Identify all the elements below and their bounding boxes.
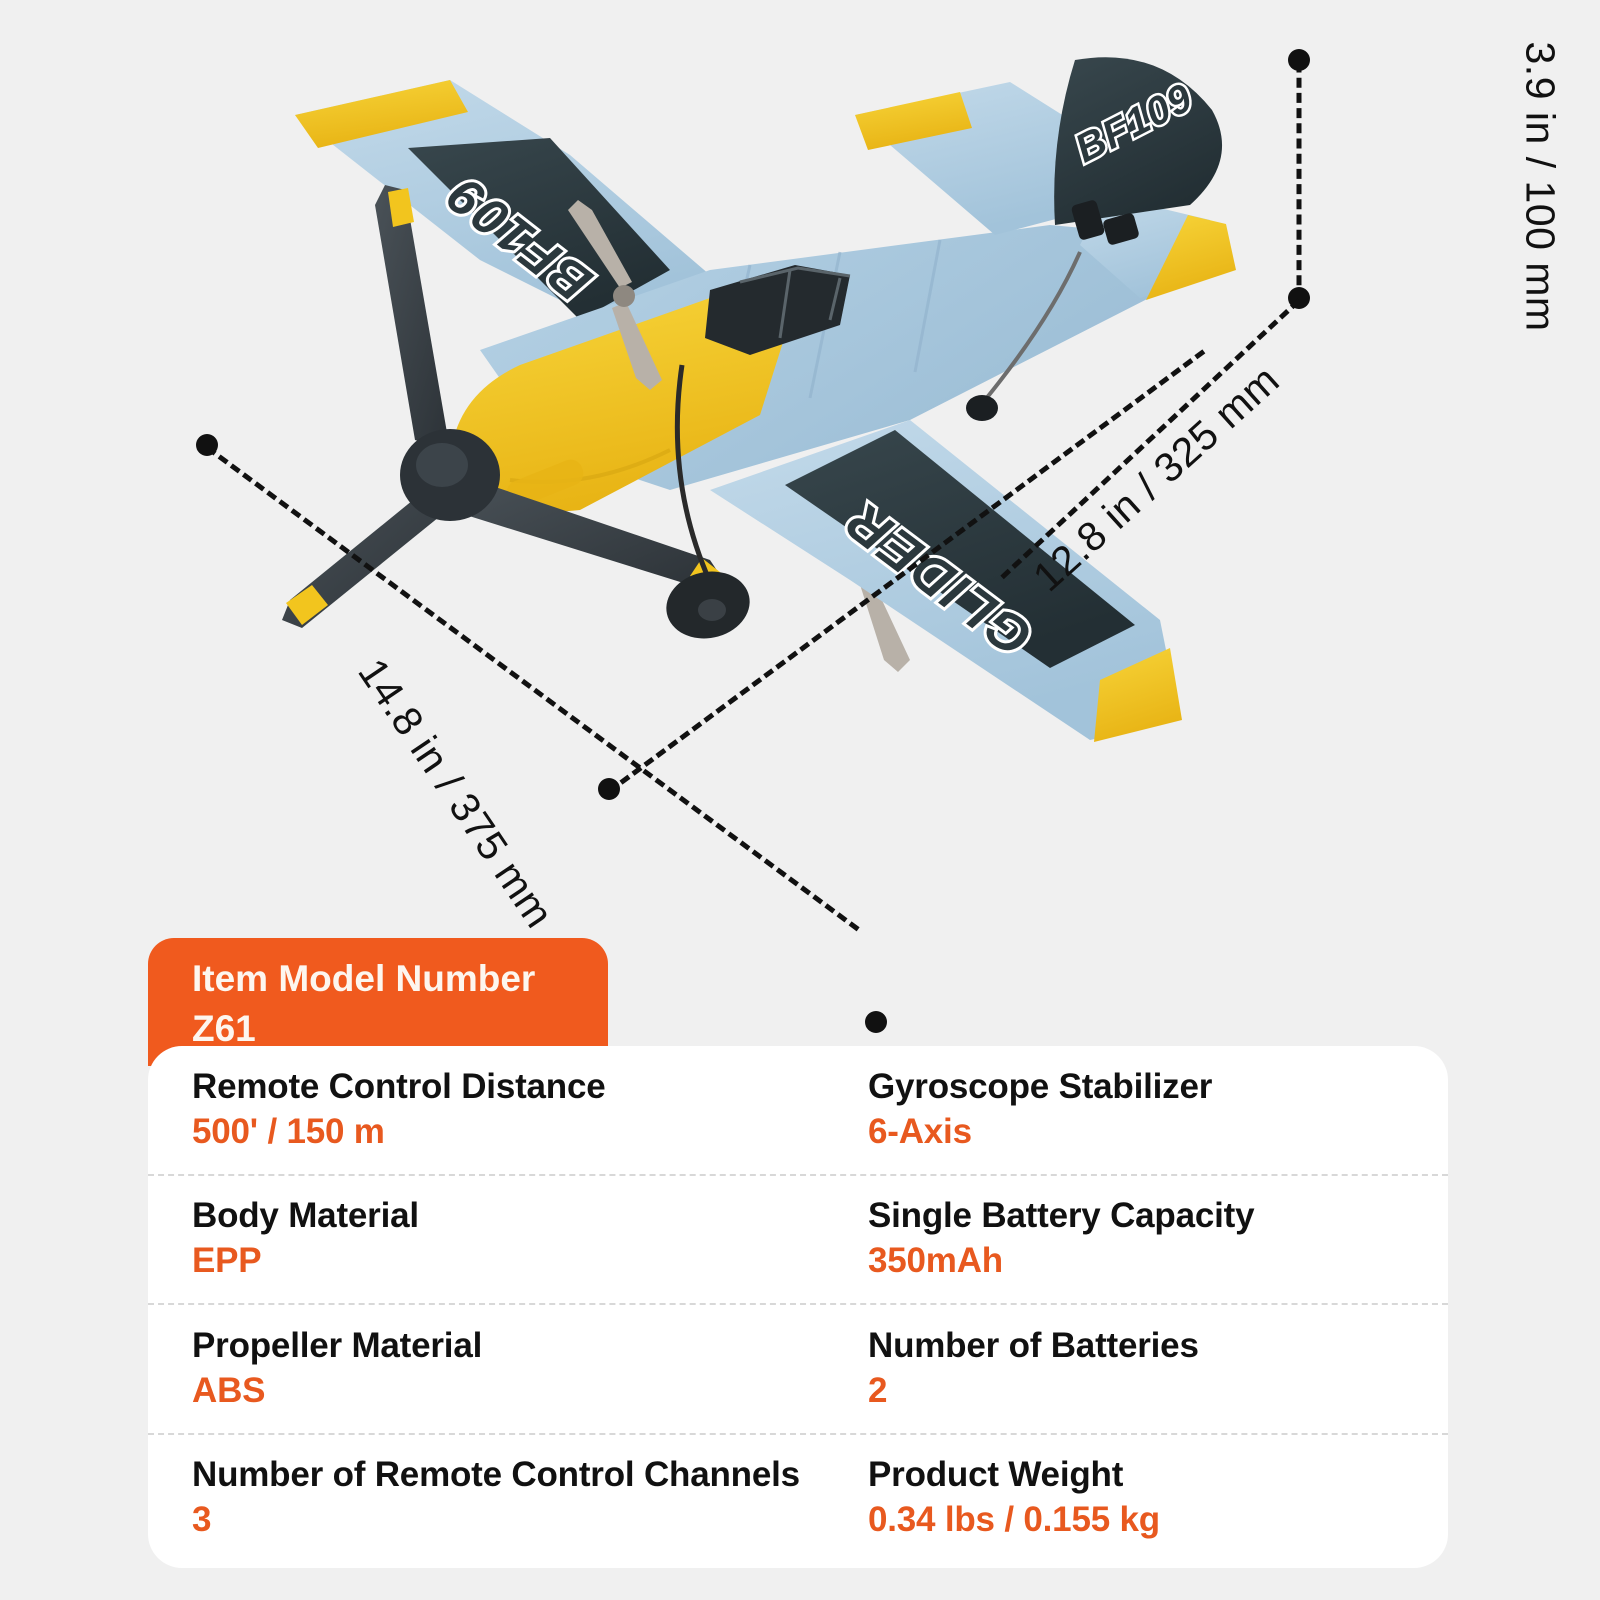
spec-cell-right: Gyroscope Stabilizer6-Axis	[824, 1065, 1448, 1155]
spec-value: EPP	[192, 1239, 824, 1284]
spec-row: Number of Remote Control Channels3Produc…	[148, 1435, 1448, 1563]
spec-label: Number of Remote Control Channels	[192, 1453, 824, 1498]
spec-label: Remote Control Distance	[192, 1065, 824, 1110]
spec-label: Gyroscope Stabilizer	[868, 1065, 1448, 1110]
spec-row: Body MaterialEPPSingle Battery Capacity3…	[148, 1176, 1448, 1306]
spec-label: Number of Batteries	[868, 1324, 1448, 1369]
dimension-endpoint-length-start	[196, 434, 218, 456]
spec-sheet: BF109 BF109	[0, 0, 1600, 1600]
spec-value: 2	[868, 1369, 1448, 1414]
dimension-endpoint-length-end	[865, 1011, 887, 1033]
spec-label: Product Weight	[868, 1453, 1448, 1498]
spec-label: Propeller Material	[192, 1324, 824, 1369]
spec-cell-right: Number of Batteries2	[824, 1324, 1448, 1414]
spec-value: 3	[192, 1498, 824, 1543]
specifications-card: Remote Control Distance500' / 150 mGyros…	[148, 1046, 1448, 1568]
spec-value: ABS	[192, 1369, 824, 1414]
spec-cell-right: Product Weight0.34 lbs / 0.155 kg	[824, 1453, 1448, 1543]
spec-cell-left: Number of Remote Control Channels3	[148, 1453, 824, 1543]
spec-cell-left: Remote Control Distance500' / 150 m	[148, 1065, 824, 1155]
spec-cell-right: Single Battery Capacity350mAh	[824, 1194, 1448, 1284]
item-model-number-label: Item Model Number	[192, 954, 608, 1004]
spec-cell-left: Body MaterialEPP	[148, 1194, 824, 1284]
spec-cell-left: Propeller MaterialABS	[148, 1324, 824, 1414]
spec-value: 0.34 lbs / 0.155 kg	[868, 1498, 1448, 1543]
spec-value: 500' / 150 m	[192, 1110, 824, 1155]
lower-wing: GLIDER GLIDER	[710, 420, 1182, 742]
spec-value: 6-Axis	[868, 1110, 1448, 1155]
dimension-endpoint-height-top	[1288, 49, 1310, 71]
spec-value: 350mAh	[868, 1239, 1448, 1284]
product-image-rc-airplane: BF109 BF109	[150, 20, 1300, 840]
dimension-line-height	[1297, 63, 1302, 301]
spec-label: Single Battery Capacity	[868, 1194, 1448, 1239]
spec-label: Body Material	[192, 1194, 824, 1239]
spec-row: Propeller MaterialABSNumber of Batteries…	[148, 1305, 1448, 1435]
dimension-label-height: 3.9 in / 100 mm	[1517, 42, 1564, 332]
spec-row: Remote Control Distance500' / 150 mGyros…	[148, 1046, 1448, 1176]
